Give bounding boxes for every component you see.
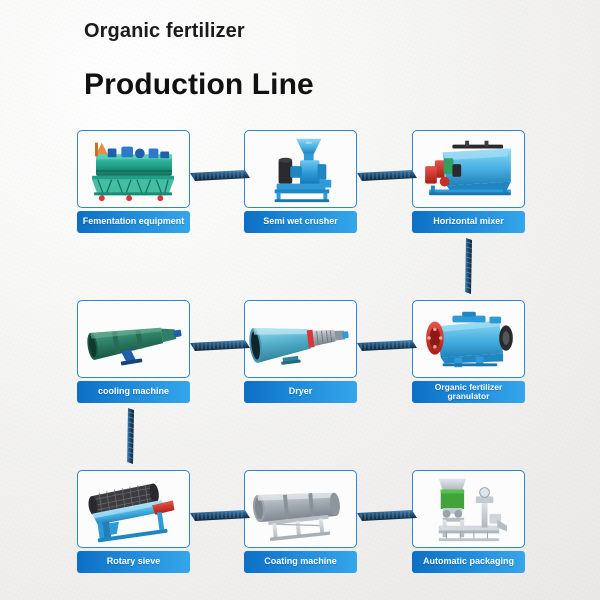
- page-title: Production Line: [84, 68, 314, 102]
- conveyor-connector-vertical: [125, 408, 136, 464]
- card-frame: [412, 130, 525, 208]
- card-label: Fementation equipment: [77, 211, 190, 233]
- card-label: Coating machine: [244, 551, 357, 573]
- conveyor-connector-horizontal: [190, 340, 250, 351]
- card-frame: [77, 470, 190, 548]
- card-fermentation-equipment[interactable]: Fementation equipment: [77, 130, 190, 233]
- card-frame: [412, 470, 525, 548]
- coating-drum-machine-icon: [245, 471, 356, 547]
- rotary-dryer-drum-machine-icon: [245, 301, 356, 377]
- card-semi-wet-crusher[interactable]: Semi wet crusher: [244, 130, 357, 233]
- card-rotary-sieve[interactable]: Rotary sieve: [77, 470, 190, 573]
- conveyor-connector-vertical: [463, 238, 474, 294]
- card-label: Dryer: [244, 381, 357, 403]
- fermentation-turner-machine-icon: [78, 131, 189, 207]
- card-coating-machine[interactable]: Coating machine: [244, 470, 357, 573]
- production-line-diagram: Organic fertilizer Production Line: [0, 0, 600, 600]
- conveyor-connector-horizontal: [190, 510, 250, 521]
- card-label: Automatic packaging: [412, 551, 525, 573]
- packaging-scale-machine-icon: [413, 471, 524, 547]
- card-automatic-packaging[interactable]: Automatic packaging: [412, 470, 525, 573]
- conveyor-connector-horizontal: [357, 170, 417, 181]
- card-label: Rotary sieve: [77, 551, 190, 573]
- page-subtitle: Organic fertilizer: [84, 20, 245, 43]
- card-frame: [412, 300, 525, 378]
- card-frame: [244, 300, 357, 378]
- card-frame: [77, 130, 190, 208]
- conveyor-connector-horizontal: [190, 170, 250, 181]
- card-frame: [244, 470, 357, 548]
- conveyor-connector-horizontal: [357, 510, 417, 521]
- card-horizontal-mixer[interactable]: Horizontal mixer: [412, 130, 525, 233]
- semi-wet-crusher-machine-icon: [245, 131, 356, 207]
- card-label: Horizontal mixer: [412, 211, 525, 233]
- card-label: Organic fertilizergranulator: [412, 381, 525, 403]
- granulator-machine-icon: [413, 301, 524, 377]
- card-frame: [244, 130, 357, 208]
- horizontal-ribbon-mixer-machine-icon: [413, 131, 524, 207]
- card-frame: [77, 300, 190, 378]
- card-dryer[interactable]: Dryer: [244, 300, 357, 403]
- card-label-line1: Organic fertilizergranulator: [435, 383, 503, 401]
- card-cooling-machine[interactable]: cooling machine: [77, 300, 190, 403]
- card-label: Semi wet crusher: [244, 211, 357, 233]
- conveyor-connector-horizontal: [357, 340, 417, 351]
- card-organic-fertilizer-granulator[interactable]: Organic fertilizergranulator: [412, 300, 525, 403]
- rotary-cooling-drum-machine-icon: [78, 301, 189, 377]
- rotary-sieve-machine-icon: [78, 471, 189, 547]
- card-label: cooling machine: [77, 381, 190, 403]
